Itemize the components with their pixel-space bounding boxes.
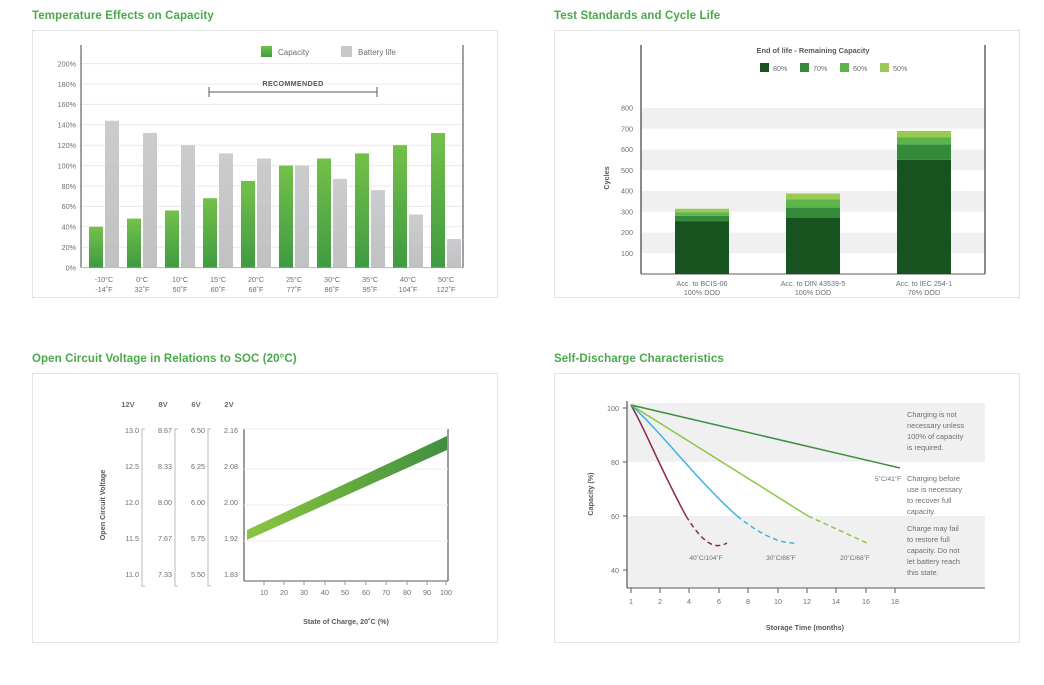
zone-note-line: let battery reach	[907, 557, 960, 566]
bar-battery-life	[447, 239, 461, 268]
legend-title: End of life - Remaining Capacity	[757, 46, 871, 55]
curve-label-30c: 30˚C/86˚F	[766, 554, 796, 562]
bar-battery-life	[409, 215, 423, 268]
zone-note-line: Charge may fail	[907, 524, 959, 533]
x-tick-label: 16	[862, 597, 870, 606]
bar-battery-life	[105, 121, 119, 268]
x-tick-label-f: 104˚F	[399, 285, 418, 294]
page-title-self-discharge: Self-Discharge Characteristics	[554, 353, 1022, 365]
x-tick-label-f: 86˚F	[325, 285, 340, 294]
chart-card-self-discharge: 100 80 60 40 Capacity (%)	[554, 373, 1020, 643]
tick-2v: 2.16	[224, 426, 238, 435]
x-tick-label-line2: 100% DOD	[795, 288, 831, 297]
legend: Capacity Battery life	[261, 46, 396, 57]
tick-12v: 13.0	[125, 426, 139, 435]
legend-swatch-battery-life	[341, 46, 352, 57]
x-tick-label: 6	[717, 597, 721, 606]
x-tick-label-c: 50°C	[438, 275, 454, 284]
tick-2v: 2.08	[224, 462, 238, 471]
y-tick-label: 100	[621, 249, 633, 258]
y-tick-label: 120%	[58, 141, 77, 150]
bar-capacity	[127, 219, 141, 268]
x-tick-label-c: 35°C	[362, 275, 378, 284]
y-tick-label: 800	[621, 104, 633, 113]
x-tick-labels: Acc. to BCIS-06 100% DOD 2HR Discharge R…	[658, 279, 969, 297]
x-ticks	[264, 581, 446, 585]
x-tick-label-f: 50˚F	[173, 285, 188, 294]
tick-8v: 8.67	[158, 426, 172, 435]
x-tick-label-line1: Acc. to DIN 43539-5	[781, 279, 846, 288]
x-tick-labels: 10 20 30 40 50 60 70 80 90 100	[260, 588, 452, 597]
curve-label-40c: 40˚C/104˚F	[689, 554, 722, 562]
panel-self-discharge: Self-Discharge Characteristics	[522, 343, 1044, 685]
x-tick-label: 14	[832, 597, 840, 606]
y-tick-label: 180%	[58, 80, 77, 89]
panel-temperature: Temperature Effects on Capacity	[0, 0, 522, 343]
x-tick-label-c: 25°C	[286, 275, 302, 284]
segment-60	[786, 199, 840, 207]
x-tick-label: 80	[403, 588, 411, 597]
y-tick-label: 80%	[62, 182, 77, 191]
x-tick-label: 2	[658, 597, 662, 606]
bar-battery-life	[219, 153, 233, 267]
x-tick-label-f: 68˚F	[249, 285, 264, 294]
bar-capacity	[431, 133, 445, 268]
legend-swatch-capacity	[261, 46, 272, 57]
temperature-chart-svg: 0% 20% 40% 60% 80% 100% 120% 140% 160% 1…	[33, 31, 497, 297]
segment-50	[675, 209, 729, 212]
tick-12v: 11.0	[126, 570, 139, 579]
curve-label-5c: 5˚C/41˚F	[875, 475, 901, 483]
segment-80	[675, 221, 729, 274]
x-tick-label-line2: 100% DOD	[684, 288, 720, 297]
x-tick-label-c: 40°C	[400, 275, 416, 284]
y-tick-label: 140%	[58, 121, 77, 130]
zone-note-line: 100% of capacity	[907, 432, 964, 441]
stacked-bar-group	[675, 209, 729, 274]
y-tick-label: 200	[621, 228, 633, 237]
y-tick-label: 60	[611, 512, 619, 521]
bar-capacity	[393, 145, 407, 267]
bar-capacity	[165, 211, 179, 268]
y-tick-label: 400	[621, 187, 633, 196]
tick-2v: 1.83	[224, 570, 238, 579]
y-tick-label: 100%	[58, 161, 77, 170]
chart-card-cycle-life: 100 200 300 400 500 600 700 800 Cycles	[554, 30, 1020, 298]
x-tick-label-f: 77˚F	[287, 285, 302, 294]
tick-12v: 12.0	[125, 498, 139, 507]
scale-rails	[142, 429, 211, 586]
zone-note-line: necessary unless	[907, 421, 964, 430]
tick-6v: 5.75	[191, 534, 205, 543]
segment-80	[786, 218, 840, 274]
tick-2v: 1.92	[224, 534, 238, 543]
bar-capacity	[317, 159, 331, 268]
x-tick-label: 10	[260, 588, 268, 597]
y-tick-labels: 100 200 300 400 500 600 700 800	[621, 104, 633, 258]
y-tick-labels: 100 80 60 40	[607, 404, 619, 575]
x-axis-title: State of Charge, 20˚C (%)	[303, 617, 389, 626]
y-tick-label: 60%	[62, 202, 77, 211]
x-axis-title: Storage Time (months)	[766, 623, 845, 632]
x-tick-label-c: 20°C	[248, 275, 264, 284]
y-tick-label: 20%	[62, 243, 77, 252]
y-tick-labels: 0% 20% 40% 60% 80% 100% 120% 140% 160% 1…	[58, 59, 77, 272]
x-tick-labels: 1 2 4 6 8 10 12 14 16 18	[629, 597, 899, 606]
segment-60	[675, 212, 729, 216]
legend-label-50: 50%	[893, 64, 908, 73]
x-tick-label-line1: Acc. to IEC 254-1	[896, 279, 952, 288]
stacked-bar-group	[897, 131, 951, 274]
legend-label-60: 60%	[853, 64, 868, 73]
x-tick-label: 1	[629, 597, 633, 606]
y-axis-title: Capacity (%)	[586, 472, 595, 516]
tick-8v: 7.33	[158, 570, 172, 579]
y-tick-label: 700	[621, 124, 633, 133]
voltage-scale-header-12v: 12V	[121, 400, 135, 409]
x-tick-label-c: 30°C	[324, 275, 340, 284]
recommended-label: RECOMMENDED	[262, 79, 323, 88]
x-tick-label-f: 95˚F	[363, 285, 378, 294]
bar-battery-life	[371, 190, 385, 268]
chart-card-temperature: 0% 20% 40% 60% 80% 100% 120% 140% 160% 1…	[32, 30, 498, 298]
ocv-chart-svg: 12V 8V 6V 2V 13.0 12.5 12.0 11.5	[33, 374, 497, 642]
legend-swatch-70	[800, 63, 809, 72]
legend-label-80: 80%	[773, 64, 788, 73]
self-discharge-chart-svg: 100 80 60 40 Capacity (%)	[555, 374, 1019, 642]
voltage-ticks-6v: 6.50 6.25 6.00 5.75 5.50	[191, 426, 205, 579]
zone-note-line: this state.	[907, 568, 939, 577]
tick-6v: 5.50	[191, 570, 205, 579]
zone-note-line: Charging is not	[907, 410, 957, 419]
page-title-ocv: Open Circuit Voltage in Relations to SOC…	[32, 353, 500, 365]
tick-12v: 11.5	[126, 534, 139, 543]
x-tick-label: 60	[362, 588, 370, 597]
tick-6v: 6.50	[191, 426, 205, 435]
tick-8v: 8.33	[158, 462, 172, 471]
x-tick-label: 4	[687, 597, 691, 606]
voltage-ticks-8v: 8.67 8.33 8.00 7.67 7.33	[158, 426, 172, 579]
zone-note-line: capacity. Do not	[907, 546, 959, 555]
legend-swatch-60	[840, 63, 849, 72]
y-tick-label: 600	[621, 145, 633, 154]
segment-70	[786, 208, 840, 218]
tick-6v: 6.00	[191, 498, 205, 507]
x-tick-label-c: 10°C	[172, 275, 188, 284]
zone-note-line: to restore full	[907, 535, 950, 544]
tick-8v: 8.00	[158, 498, 172, 507]
x-tick-label: 100	[440, 588, 452, 597]
ocv-band	[247, 436, 447, 540]
tick-8v: 7.67	[158, 534, 172, 543]
x-tick-label-c: -10°C	[95, 275, 113, 284]
y-tick-label: 200%	[58, 59, 77, 68]
x-tick-label: 10	[774, 597, 782, 606]
x-tick-label: 18	[891, 597, 899, 606]
tick-2v: 2.00	[224, 498, 238, 507]
y-tick-label: 80	[611, 458, 619, 467]
bar-capacity	[241, 181, 255, 268]
y-tick-label: 100	[607, 404, 619, 413]
voltage-ticks-12v: 13.0 12.5 12.0 11.5 11.0	[125, 426, 139, 579]
legend-label-70: 70%	[813, 64, 828, 73]
y-tick-label: 300	[621, 207, 633, 216]
x-tick-label-line1: Acc. to BCIS-06	[676, 279, 727, 288]
y-tick-label: 160%	[58, 100, 77, 109]
x-tick-label-f: 32˚F	[135, 285, 150, 294]
voltage-scale-headers: 12V 8V 6V 2V	[121, 400, 234, 409]
x-tick-label: 40	[321, 588, 329, 597]
x-tick-label: 30	[300, 588, 308, 597]
x-tick-label: 50	[341, 588, 349, 597]
segment-60	[897, 137, 951, 144]
y-axis-title: Cycles	[602, 166, 611, 189]
segment-70	[675, 216, 729, 221]
segment-50	[786, 194, 840, 200]
charts-grid: Temperature Effects on Capacity	[0, 0, 1044, 685]
y-tick-label: 0%	[66, 263, 77, 272]
x-tick-label: 8	[746, 597, 750, 606]
bar-battery-life	[181, 145, 195, 267]
x-tick-label: 12	[803, 597, 811, 606]
tick-12v: 12.5	[125, 462, 139, 471]
bar-battery-life	[257, 159, 271, 268]
zone-note-line: use is necessary	[907, 485, 962, 494]
panel-ocv: Open Circuit Voltage in Relations to SOC…	[0, 343, 522, 685]
bar-capacity	[355, 153, 369, 267]
voltage-ticks-2v: 2.16 2.08 2.00 1.92 1.83	[224, 426, 238, 579]
y-tick-label: 40%	[62, 223, 77, 232]
tick-6v: 6.25	[191, 462, 205, 471]
legend: End of life - Remaining Capacity 80% 70%…	[757, 46, 908, 73]
x-tick-labels: -10°C -14˚F 0°C 32˚F 10°C 50˚F 15°C 60˚F…	[95, 275, 456, 294]
cycle-life-chart-svg: 100 200 300 400 500 600 700 800 Cycles	[555, 31, 1019, 297]
stacked-bar-group	[786, 194, 840, 275]
zone-note-line: capacity.	[907, 507, 936, 516]
x-tick-label-line2: 70% DOD	[908, 288, 940, 297]
legend-label-capacity: Capacity	[278, 48, 309, 57]
voltage-scale-header-6v: 6V	[191, 400, 201, 409]
zone-note-line: Charging before	[907, 474, 960, 483]
panel-cycle-life: Test Standards and Cycle Life	[522, 0, 1044, 343]
x-tick-label-f: 60˚F	[211, 285, 226, 294]
x-tick-label-f: -14˚F	[95, 285, 113, 294]
x-tick-label: 90	[423, 588, 431, 597]
page-title-temperature: Temperature Effects on Capacity	[32, 10, 500, 22]
bar-battery-life	[295, 166, 309, 268]
bar-capacity	[203, 198, 217, 267]
x-tick-label: 70	[382, 588, 390, 597]
legend-swatch-80	[760, 63, 769, 72]
zone-note-middle: Charging before use is necessary to reco…	[907, 474, 962, 516]
legend-label-battery-life: Battery life	[358, 48, 396, 57]
bar-battery-life	[143, 133, 157, 268]
page-title-cycle-life: Test Standards and Cycle Life	[554, 10, 1022, 22]
segment-50	[897, 131, 951, 137]
y-tick-label: 500	[621, 166, 633, 175]
segment-80	[897, 160, 951, 274]
voltage-scale-header-8v: 8V	[158, 400, 168, 409]
bar-battery-life	[333, 179, 347, 268]
chart-card-ocv: 12V 8V 6V 2V 13.0 12.5 12.0 11.5	[32, 373, 498, 643]
bar-capacity	[279, 166, 293, 268]
bar-capacity	[89, 227, 103, 268]
x-tick-label: 20	[280, 588, 288, 597]
legend-swatch-50	[880, 63, 889, 72]
bars	[89, 121, 461, 268]
y-axis-title: Open Circuit Voltage	[98, 470, 107, 541]
zone-note-line: is required.	[907, 443, 944, 452]
x-tick-label-c: 15°C	[210, 275, 226, 284]
zone-note-line: to recover full	[907, 496, 952, 505]
recommended-annotation: RECOMMENDED	[209, 79, 377, 97]
voltage-scale-header-2v: 2V	[224, 400, 234, 409]
segment-70	[897, 144, 951, 160]
x-tick-label-c: 0°C	[136, 275, 148, 284]
x-ticks	[631, 588, 895, 593]
curve-label-20c: 20˚C/68˚F	[840, 554, 870, 562]
y-tick-label: 40	[611, 566, 619, 575]
x-tick-label-f: 122˚F	[437, 285, 456, 294]
